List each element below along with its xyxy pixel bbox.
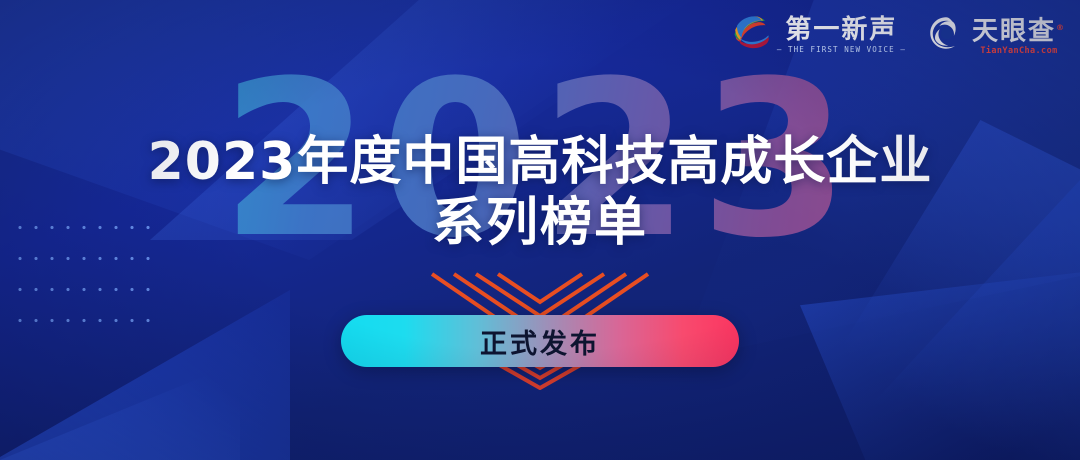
release-status-pill[interactable]: 正式发布 [341, 315, 739, 367]
trademark-symbol: ® [1056, 23, 1066, 32]
logo-tianyancha-tagline: TianYanCha.com [980, 46, 1057, 57]
background-facet-top-stripe [150, 0, 710, 240]
logo-diyixinsheng-tagline: — THE FIRST NEW VOICE — [777, 44, 906, 55]
release-status-label: 正式发布 [480, 322, 600, 361]
logo-diyixinsheng[interactable]: 第一新声 — THE FIRST NEW VOICE — [731, 14, 906, 57]
background-facet-top-left [0, 0, 750, 260]
logo-tianyancha-name-cn: 天眼查 [972, 17, 1056, 47]
swirl-globe-icon [731, 14, 769, 57]
logo-tianyancha-name: 天眼查® [972, 14, 1066, 46]
background-facet-right-mid [760, 120, 1080, 460]
logo-tianyancha-text: 天眼查® TianYanCha.com [972, 14, 1066, 57]
page-title: 2023年度中国高科技高成长企业 系列榜单 [0, 132, 1080, 254]
headline-line-2: 系列榜单 [0, 192, 1080, 254]
logo-tianyancha[interactable]: 天眼查® TianYanCha.com [928, 14, 1066, 57]
logo-diyixinsheng-name: 第一新声 [785, 16, 897, 44]
dot-grid-decoration [12, 212, 158, 330]
background-facet-bottom-left [0, 290, 290, 460]
background-facet-bottom-left-2 [0, 340, 240, 460]
shutter-eye-icon [928, 15, 964, 56]
logo-bar: 第一新声 — THE FIRST NEW VOICE — 天眼查® TianYa… [731, 14, 1066, 57]
background-facet-right-lower [820, 180, 1080, 460]
year-watermark: 2023 [0, 52, 1080, 267]
logo-diyixinsheng-text: 第一新声 — THE FIRST NEW VOICE — [777, 16, 906, 55]
headline-line-1: 2023年度中国高科技高成长企业 [0, 132, 1080, 192]
promo-banner: 2023 2023年度中国高科技高成长企业 系列榜单 正式发布 [0, 0, 1080, 460]
vignette-overlay [0, 0, 1080, 460]
background-facet-bottom-right [800, 270, 1080, 460]
